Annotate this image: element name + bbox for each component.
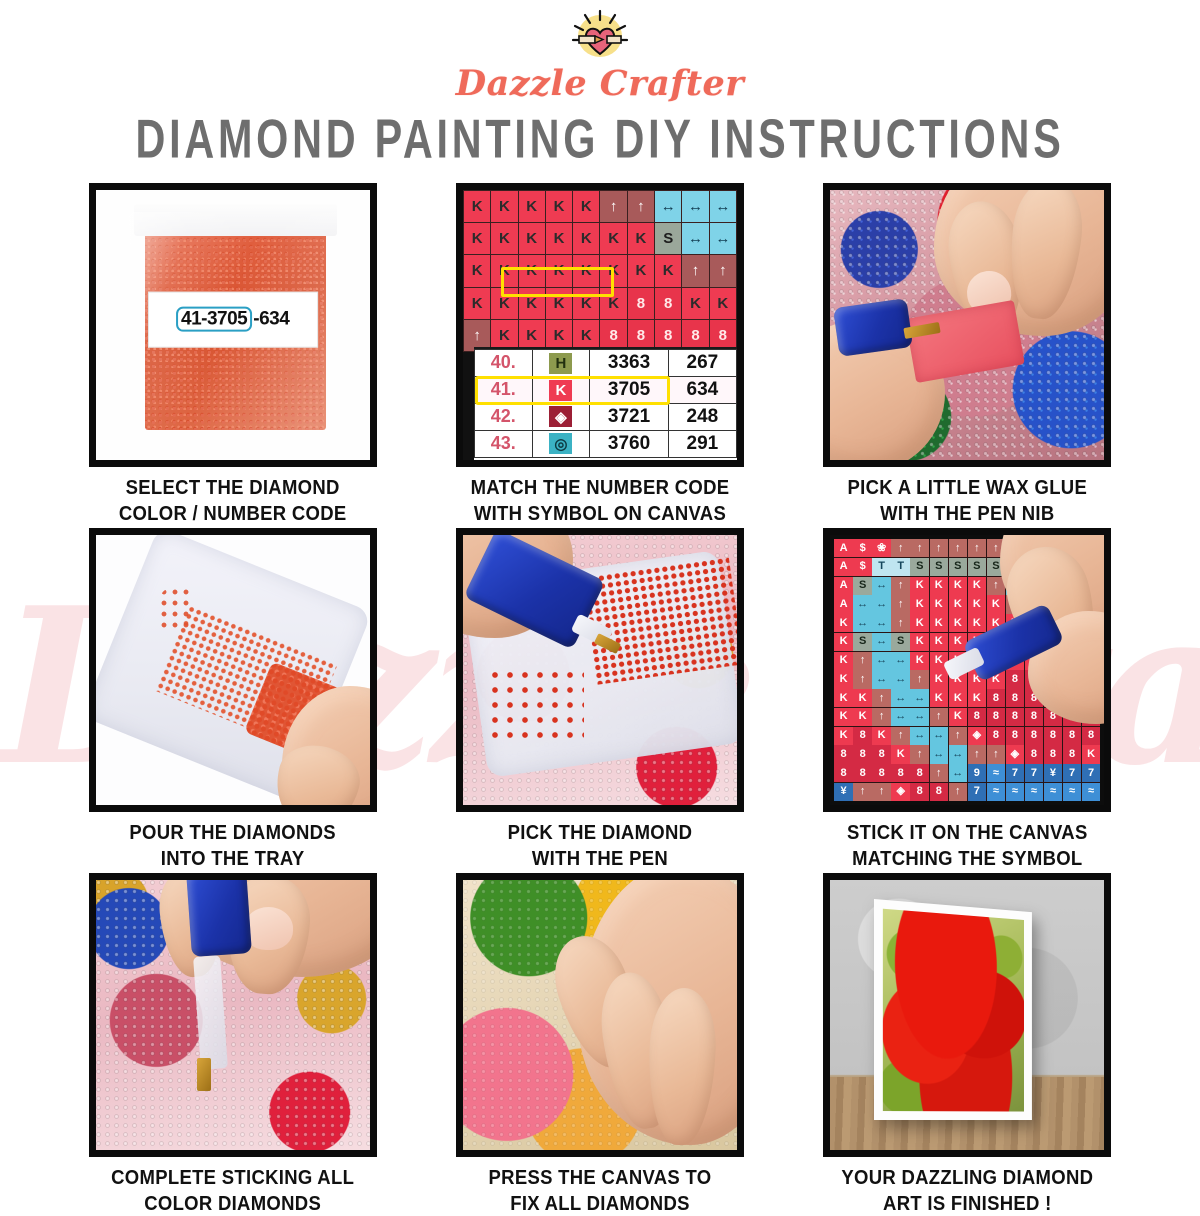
bag-label-code: 41-3705-634 [176,309,289,331]
grid-cell: 8 [968,708,987,726]
grid-cell: ≈ [1082,783,1101,801]
grid-cell: 8 [1006,727,1025,745]
grid-cell: ↔ [891,708,910,726]
grid-cell: ↑ [910,745,929,763]
grid-cell: 8 [628,288,654,319]
brand-logo-icon [563,6,637,64]
grid-cell: ↑ [600,191,626,222]
grid-cell: ↑ [891,577,910,595]
grid-cell: S [968,558,987,576]
grid-cell: K [949,708,968,726]
grid-cell: ↑ [910,670,929,688]
instruction-steps-grid: 41-3705-634 SELECT THE DIAMOND COLOR / N… [0,165,1200,1210]
grid-cell: K [573,223,599,254]
legend-row: 41.K3705634 [474,376,736,403]
step-caption-5-line2: WITH THE PEN [508,845,693,871]
grid-cell: K [628,255,654,286]
grid-cell: ↑ [872,689,891,707]
grid-cell: K [987,595,1006,613]
grid-cell: S [949,558,968,576]
step-caption-1-line2: COLOR / NUMBER CODE [119,500,347,526]
grid-cell: 8 [1063,727,1082,745]
grid-cell: K [491,191,517,222]
grid-cell: 8 [987,708,1006,726]
step-caption-1: SELECT THE DIAMOND COLOR / NUMBER CODE [119,474,347,526]
grid-cell: ↔ [930,727,949,745]
grid-cell: ↑ [930,764,949,782]
grid-cell: ↑ [872,708,891,726]
grid-cell: ↔ [891,652,910,670]
grid-cell: K [949,614,968,632]
step-caption-7-line1: COMPLETE STICKING ALL [111,1164,354,1190]
grid-cell: K [834,689,853,707]
grid-cell: K [834,708,853,726]
legend-rows: 40.H336326741.K370563442.◈372124843.◎376… [474,349,736,457]
step-card-2: KKKKK↑↑↔↔↔KKKKKKKS↔↔KKKKKKKK↑↑KKKKKK88KK… [427,183,772,520]
grid-cell: K [930,670,949,688]
step-caption-2-line2: WITH SYMBOL ON CANVAS [471,500,730,526]
step-caption-1-line1: SELECT THE DIAMOND [119,474,347,500]
step-caption-3-line1: PICK A LITTLE WAX GLUE [848,474,1088,500]
grid-cell: K [519,288,545,319]
grid-cell: K [464,191,490,222]
grid-cell: K [655,255,681,286]
grid-cell: ↔ [910,727,929,745]
grid-cell: K [949,595,968,613]
legend-row-number: 41. [474,376,532,403]
grid-cell: ≈ [987,764,1006,782]
grid-cell: A [834,558,853,576]
bag-label: 41-3705-634 [148,291,318,348]
step-caption-4: POUR THE DIAMONDS INTO THE TRAY [129,819,336,871]
page-header: Dazzle Crafter DIAMOND PAINTING DIY INST… [0,0,1200,165]
grid-cell: 8 [910,783,929,801]
grid-cell: K [930,577,949,595]
grid-cell: 8 [872,764,891,782]
legend-row-symbol: H [532,349,590,376]
grid-cell: 8 [1025,708,1044,726]
legend-row-number: 40. [474,349,532,376]
grid-cell: K [464,223,490,254]
grid-cell: S [930,558,949,576]
grid-cell: ↔ [910,708,929,726]
pen-picking-wax-glue-photo [823,183,1111,467]
grid-cell: K [546,255,572,286]
legend-row-code: 3760 [590,430,669,457]
grid-cell: K [834,652,853,670]
grid-cell: K [546,223,572,254]
step-caption-9-line2: ART IS FINISHED ! [841,1190,1093,1216]
grid-cell: ↑ [910,539,929,557]
grid-cell: K [491,223,517,254]
grid-cell: ↑ [853,652,872,670]
grid-cell: K [464,288,490,319]
grid-cell: K [930,633,949,651]
grid-cell: ↔ [853,595,872,613]
grid-cell: 8 [1025,727,1044,745]
step-caption-6: STICK IT ON THE CANVAS MATCHING THE SYMB… [847,819,1088,871]
grid-cell: K [930,595,949,613]
step-caption-6-line2: MATCHING THE SYMBOL [847,845,1088,871]
pour-diamonds-into-tray-photo [89,528,377,812]
grid-cell: 7 [1082,764,1101,782]
grid-cell: 8 [930,783,949,801]
grid-cell: K [600,255,626,286]
diamond-bag-photo: 41-3705-634 [89,183,377,467]
grid-cell: 8 [834,764,853,782]
grid-cell: 7 [1025,764,1044,782]
grid-cell: ◈ [891,783,910,801]
grid-cell: ◈ [968,727,987,745]
pick-diamond-with-pen-photo [456,528,744,812]
grid-cell: K [910,652,929,670]
legend-row-dmc: 291 [668,430,736,457]
grid-cell: S [853,633,872,651]
grid-cell: K [853,708,872,726]
grid-cell: 8 [1082,727,1101,745]
grid-cell: K [872,727,891,745]
grid-cell: K [949,577,968,595]
grid-cell: 8 [1044,745,1063,763]
grid-cell: ↑ [949,727,968,745]
grid-cell: ↑ [853,783,872,801]
step-caption-8: PRESS THE CANVAS TO FIX ALL DIAMONDS [489,1164,712,1216]
grid-cell: 9 [968,764,987,782]
grid-cell: ↔ [872,577,891,595]
step-card-3: PICK A LITTLE WAX GLUE WITH THE PEN NIB [795,183,1140,520]
grid-cell: K [910,614,929,632]
grid-cell: K [546,288,572,319]
grid-cell: ↔ [655,191,681,222]
grid-cell: ↔ [949,745,968,763]
grid-cell: A [834,577,853,595]
grid-cell: ❀ [872,539,891,557]
grid-cell: K [1082,745,1101,763]
grid-cell: 8 [853,727,872,745]
step-caption-7: COMPLETE STICKING ALL COLOR DIAMONDS [111,1164,354,1216]
step-caption-8-line2: FIX ALL DIAMONDS [489,1190,712,1216]
grid-cell: ◈ [1006,745,1025,763]
grid-cell: 8 [853,764,872,782]
grid-cell: K [546,191,572,222]
press-canvas-photo [456,873,744,1157]
grid-cell: ↑ [891,539,910,557]
grid-cell: ↑ [628,191,654,222]
step-caption-5: PICK THE DIAMOND WITH THE PEN [508,819,693,871]
grid-cell: ↔ [872,633,891,651]
grid-cell: K [834,614,853,632]
legend-row: 40.H3363267 [474,349,736,376]
grid-cell: K [710,288,736,319]
grid-cell: ↑ [853,670,872,688]
legend-row-symbol: K [532,376,590,403]
bag-label-code-suffix: -634 [253,309,289,330]
legend-row-number: 43. [474,430,532,457]
grid-cell: 8 [891,764,910,782]
grid-cell: ≈ [1063,783,1082,801]
grid-cell: 8 [987,689,1006,707]
grid-cell: ↑ [987,745,1006,763]
step-card-4: POUR THE DIAMONDS INTO THE TRAY [60,528,405,865]
grid-cell: 7 [1063,764,1082,782]
step-caption-3: PICK A LITTLE WAX GLUE WITH THE PEN NIB [848,474,1088,526]
step-card-9: YOUR DAZZLING DIAMOND ART IS FINISHED ! [795,873,1140,1210]
grid-cell: 7 [968,783,987,801]
brand-name: Dazzle Crafter [0,66,1200,101]
grid-cell: S [891,633,910,651]
step-card-8: PRESS THE CANVAS TO FIX ALL DIAMONDS [427,873,772,1210]
finished-framed-poppy-art-photo [823,873,1111,1157]
grid-cell: ↔ [710,223,736,254]
grid-cell: K [834,670,853,688]
legend-row-code: 3721 [590,403,669,430]
grid-cell: ↔ [872,595,891,613]
page-title: DIAMOND PAINTING DIY INSTRUCTIONS [36,109,1164,172]
grid-cell: K [491,255,517,286]
step-card-1: 41-3705-634 SELECT THE DIAMOND COLOR / N… [60,183,405,520]
grid-cell: K [930,614,949,632]
legend-row: 43.◎3760291 [474,430,736,457]
grid-cell: ↔ [930,745,949,763]
grid-cell: ≈ [1025,783,1044,801]
grid-cell: ↑ [930,708,949,726]
canvas-chart-with-legend-photo: KKKKK↑↑↔↔↔KKKKKKKS↔↔KKKKKKKK↑↑KKKKKK88KK… [456,183,744,467]
grid-cell: K [968,614,987,632]
grid-cell: K [968,689,987,707]
grid-cell: S [655,223,681,254]
grid-cell: 8 [853,745,872,763]
step-caption-9-line1: YOUR DAZZLING DIAMOND [841,1164,1093,1190]
legend-row: 42.◈3721248 [474,403,736,430]
step-caption-8-line1: PRESS THE CANVAS TO [489,1164,712,1190]
grid-cell: K [968,577,987,595]
picture-frame [874,899,1032,1120]
grid-cell: K [573,288,599,319]
grid-cell: 8 [1006,708,1025,726]
grid-cell: K [519,255,545,286]
grid-cell: ↔ [853,614,872,632]
legend-row-code: 3705 [590,376,669,403]
grid-cell: ↔ [872,652,891,670]
grid-cell: 8 [1063,745,1082,763]
grid-cell: K [600,223,626,254]
grid-cell: ↑ [891,595,910,613]
grid-cell: 8 [1006,670,1025,688]
grid-cell: 8 [1025,745,1044,763]
grid-cell: ↔ [949,764,968,782]
grid-cell: K [573,191,599,222]
step-card-6: A$❀↑↑↑↑↑↑↑↑↑KKA$TTSSSSS↔↔S↑KAS↔↑KKKK↑↔↔↔… [795,528,1140,865]
grid-cell: ↔ [710,191,736,222]
grid-cell: K [853,689,872,707]
grid-cell: K [491,288,517,319]
step-card-7: COMPLETE STICKING ALL COLOR DIAMONDS [60,873,405,1210]
step-caption-4-line1: POUR THE DIAMONDS [129,819,336,845]
step-caption-7-line2: COLOR DIAMONDS [111,1190,354,1216]
grid-cell: K [573,255,599,286]
step-caption-6-line1: STICK IT ON THE CANVAS [847,819,1088,845]
grid-cell: ↔ [682,191,708,222]
grid-cell: ↑ [710,255,736,286]
grid-cell: 8 [910,764,929,782]
grid-cell: ↑ [968,539,987,557]
grid-cell: S [853,577,872,595]
grid-cell: 8 [1006,689,1025,707]
grid-cell: ≈ [1006,783,1025,801]
grid-cell: ↑ [930,539,949,557]
grid-cell: ↑ [949,783,968,801]
grid-cell: K [949,689,968,707]
grid-cell: ↔ [891,689,910,707]
grid-cell: ↑ [891,727,910,745]
color-legend-table: 40.H336326741.K370563442.◈372124843.◎376… [474,347,737,460]
grid-cell: K [891,745,910,763]
step-caption-9: YOUR DAZZLING DIAMOND ART IS FINISHED ! [841,1164,1093,1216]
grid-cell: K [834,727,853,745]
canvas-symbol-grid: KKKKK↑↑↔↔↔KKKKKKKS↔↔KKKKKKKK↑↑KKKKKK88KK… [463,190,737,352]
grid-cell: K [628,223,654,254]
step-caption-2-line1: MATCH THE NUMBER CODE [471,474,730,500]
grid-cell: K [519,191,545,222]
grid-cell: ↔ [872,614,891,632]
grid-cell: ↔ [910,689,929,707]
grid-cell: 8 [655,288,681,319]
grid-cell: $ [853,539,872,557]
grid-cell: $ [853,558,872,576]
grid-cell: 8 [987,727,1006,745]
step-caption-5-line1: PICK THE DIAMOND [508,819,693,845]
grid-cell: T [872,558,891,576]
bag-label-code-boxed: 41-3705 [176,307,252,332]
grid-cell: 8 [1044,727,1063,745]
grid-cell: ≈ [1044,783,1063,801]
grid-cell: K [910,577,929,595]
grid-cell: ↔ [891,670,910,688]
grid-cell: K [930,689,949,707]
grid-cell: ↔ [682,223,708,254]
grid-cell: K [910,633,929,651]
grid-cell: A [834,595,853,613]
grid-cell: K [682,288,708,319]
completed-sticking-diamonds-photo [89,873,377,1157]
step-caption-3-line2: WITH THE PEN NIB [848,500,1088,526]
grid-cell: ¥ [834,783,853,801]
legend-row-symbol: ◎ [532,430,590,457]
grid-cell: K [834,633,853,651]
grid-cell: S [910,558,929,576]
grid-cell: A [834,539,853,557]
grid-cell: K [464,255,490,286]
legend-row-symbol: ◈ [532,403,590,430]
legend-row-dmc: 267 [668,349,736,376]
grid-cell: ↑ [949,539,968,557]
step-card-5: PICK THE DIAMOND WITH THE PEN [427,528,772,865]
legend-row-code: 3363 [590,349,669,376]
stick-diamond-on-canvas-photo: A$❀↑↑↑↑↑↑↑↑↑KKA$TTSSSSS↔↔S↑KAS↔↑KKKK↑↔↔↔… [823,528,1111,812]
grid-cell: ≈ [987,783,1006,801]
grid-cell: K [600,288,626,319]
grid-cell: K [968,595,987,613]
legend-row-dmc: 634 [668,376,736,403]
grid-cell: K [519,223,545,254]
legend-row-number: 42. [474,403,532,430]
grid-cell: K [910,595,929,613]
grid-cell: ↑ [682,255,708,286]
poppy-artwork [883,909,1024,1112]
grid-cell: 8 [834,745,853,763]
grid-cell: ↑ [872,783,891,801]
grid-cell: ↔ [872,670,891,688]
grid-cell: ↑ [968,745,987,763]
step-caption-2: MATCH THE NUMBER CODE WITH SYMBOL ON CAN… [471,474,730,526]
grid-cell: 7 [1006,764,1025,782]
grid-cell: T [891,558,910,576]
grid-cell: ¥ [1044,764,1063,782]
grid-cell: 8 [872,745,891,763]
step-caption-4-line2: INTO THE TRAY [129,845,336,871]
grid-cell: ↑ [891,614,910,632]
legend-row-dmc: 248 [668,403,736,430]
